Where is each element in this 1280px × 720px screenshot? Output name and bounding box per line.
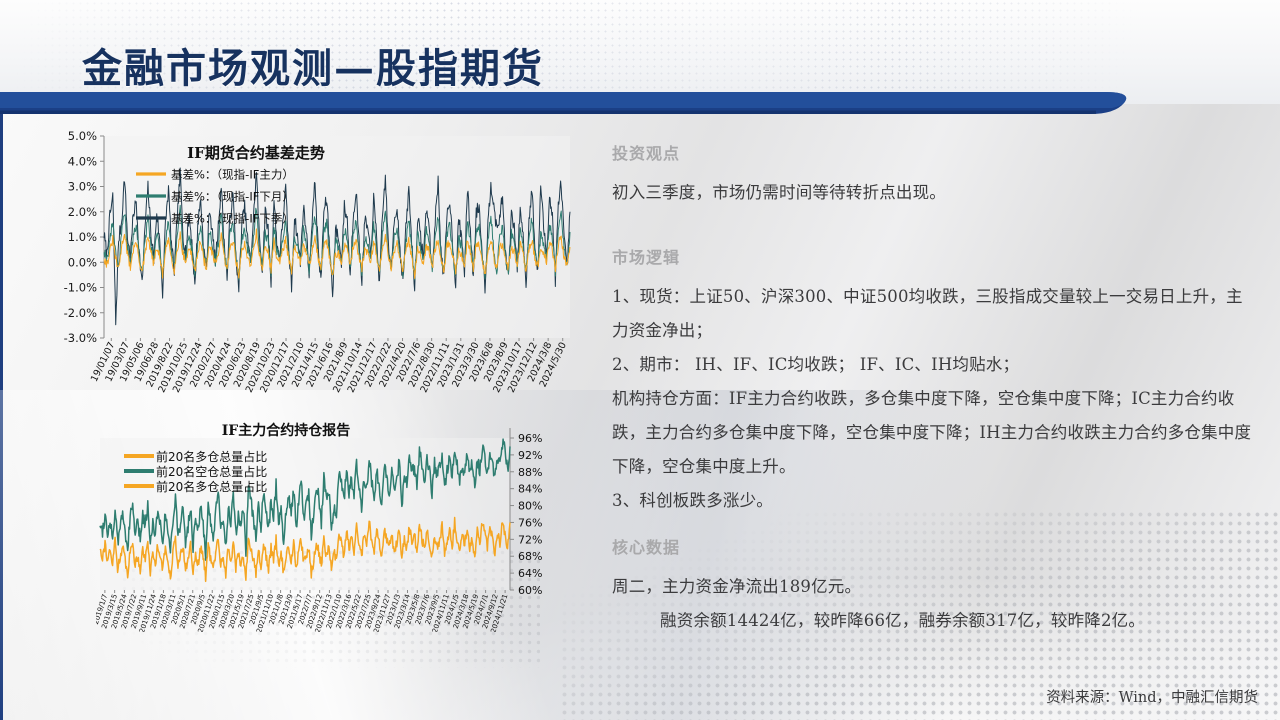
header-accent-bar <box>0 92 1280 114</box>
chart1-canvas: 5.0%4.0%3.0%2.0%1.0%0.0%-1.0%-2.0%-3.0%基… <box>46 126 576 418</box>
section-heading-core-data: 核心数据 <box>612 534 1252 558</box>
svg-text:92%: 92% <box>518 449 542 462</box>
spacer-1 <box>612 210 1252 244</box>
spacer-2 <box>612 518 1252 534</box>
section-heading-market-logic: 市场逻辑 <box>612 244 1252 268</box>
svg-text:1.0%: 1.0% <box>68 230 97 244</box>
svg-text:基差%：（现指-IF下季）: 基差%：（现指-IF下季） <box>171 212 294 226</box>
svg-text:5.0%: 5.0% <box>68 129 97 143</box>
svg-text:基差%：（现指-IF主力）: 基差%：（现指-IF主力） <box>171 168 294 182</box>
svg-text:72%: 72% <box>518 533 542 546</box>
market-logic-point-institution: 机构持仓方面：IF主力合约收跌，多仓集中度下降，空仓集中度下降；IC主力合约收跌… <box>612 382 1252 484</box>
page-title: 金融市场观测—股指期货 <box>82 36 544 94</box>
svg-text:0.0%: 0.0% <box>68 255 97 269</box>
svg-text:前20名空仓总量占比: 前20名空仓总量占比 <box>156 464 267 479</box>
slide-root: 金融市场观测—股指期货 IF期货合约基差走势 5.0%4.0%3.0%2.0%1… <box>0 0 1280 720</box>
core-data-line-2: 融资余额14424亿，较昨降66亿，融券余额317亿，较昨降2亿。 <box>612 604 1252 638</box>
svg-text:2.0%: 2.0% <box>68 205 97 219</box>
market-logic-point-2: 2、期市： IH、IF、IC均收跌； IF、IC、IH均贴水； <box>612 348 1252 382</box>
svg-text:60%: 60% <box>518 584 542 597</box>
svg-text:-2.0%: -2.0% <box>64 306 97 320</box>
svg-text:3.0%: 3.0% <box>68 180 97 194</box>
svg-text:-3.0%: -3.0% <box>64 331 97 345</box>
chart2-title: IF主力合约持仓报告 <box>136 420 436 440</box>
commentary-column: 投资观点 初入三季度，市场仍需时间等待转折点出现。 市场逻辑 1、现货：上证50… <box>612 140 1252 638</box>
svg-text:88%: 88% <box>518 466 542 479</box>
svg-text:基差%：（现指-IF下月）: 基差%：（现指-IF下月） <box>171 190 294 204</box>
svg-text:68%: 68% <box>518 550 542 563</box>
core-data-line-1: 周二，主力资金净流出189亿元。 <box>612 570 1252 604</box>
svg-text:64%: 64% <box>518 567 542 580</box>
investment-view-body: 初入三季度，市场仍需时间等待转折点出现。 <box>612 176 1252 210</box>
svg-text:4.0%: 4.0% <box>68 154 97 168</box>
chart-if-basis-trend[interactable]: IF期货合约基差走势 5.0%4.0%3.0%2.0%1.0%0.0%-1.0%… <box>46 126 576 418</box>
section-heading-investment-view: 投资观点 <box>612 140 1252 164</box>
market-logic-point-3: 3、科创板跌多涨少。 <box>612 484 1252 518</box>
chart2-canvas: 96%92%88%84%80%76%72%68%64%60%前20名多仓总量占比… <box>96 420 566 632</box>
chart1-title: IF期货合约基差走势 <box>106 142 406 163</box>
svg-text:76%: 76% <box>518 516 542 529</box>
svg-text:-1.0%: -1.0% <box>64 281 97 295</box>
source-note: 资料来源：Wind，中融汇信期货 <box>1046 686 1258 707</box>
svg-text:前20名多仓总量占比: 前20名多仓总量占比 <box>156 479 267 494</box>
svg-text:96%: 96% <box>518 432 542 445</box>
slide-header: 金融市场观测—股指期货 <box>0 0 1280 104</box>
market-logic-point-1: 1、现货：上证50、沪深300、中证500均收跌，三股指成交量较上一交易日上升，… <box>612 280 1252 348</box>
svg-text:84%: 84% <box>518 483 542 496</box>
chart-if-position-report[interactable]: IF主力合约持仓报告 96%92%88%84%80%76%72%68%64%60… <box>96 420 566 632</box>
svg-text:80%: 80% <box>518 500 542 513</box>
svg-text:前20名多仓总量占比: 前20名多仓总量占比 <box>156 449 267 464</box>
